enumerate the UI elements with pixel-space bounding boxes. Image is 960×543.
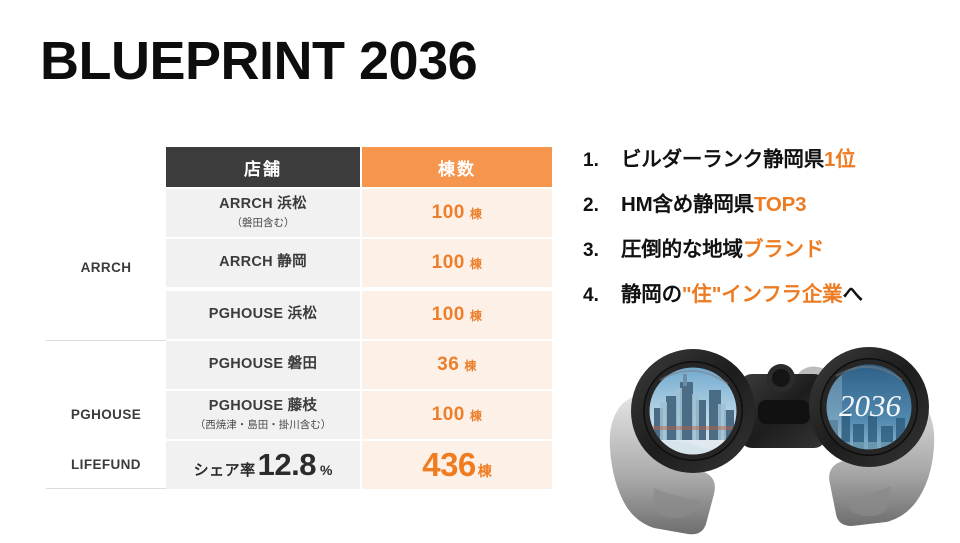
table-row: PGHOUSE 磐田 [166, 341, 360, 391]
list-item: 2. HM含め静岡県TOP3 [583, 187, 953, 232]
table-cell-count: 100棟 [362, 391, 552, 441]
share-value: 12.8 [258, 447, 316, 483]
total-unit: 棟 [478, 461, 492, 481]
list-item-highlight: ブランド [743, 238, 824, 261]
store-sub: （磐田含む） [232, 215, 295, 230]
list-item: 3. 圧倒的な地域ブランド [583, 232, 953, 277]
column-header-count: 棟数 [362, 147, 552, 187]
list-item-text-after: へ [842, 283, 862, 306]
list-item: 1. ビルダーランク静岡県1位 [583, 142, 953, 187]
table-cell-count: 36棟 [362, 341, 552, 391]
list-item-number: 1. [583, 150, 621, 172]
count-unit: 棟 [470, 407, 483, 424]
lens-text: 2036 [839, 388, 902, 423]
list-item-number: 3. [583, 240, 621, 262]
list-item: 4. 静岡の"住"インフラ企業へ [583, 277, 953, 322]
list-item-number: 2. [583, 195, 621, 217]
table-cell-count: 100棟 [362, 189, 552, 239]
table-cell-count: 100棟 [362, 291, 552, 341]
table-row: ARRCH 静岡 [166, 239, 360, 289]
store-name: ARRCH 静岡 [219, 254, 307, 271]
table-row: PGHOUSE 藤枝 （西焼津・島田・掛川含む） [166, 391, 360, 441]
count-unit: 棟 [464, 357, 477, 374]
list-item-text: HM含め静岡県 [621, 193, 754, 216]
column-header-store: 店舗 [166, 147, 360, 187]
summary-total-cell: 436 棟 [362, 441, 552, 489]
store-name: PGHOUSE 藤枝 [209, 398, 318, 415]
binoculars-illustration: 2036 [590, 338, 952, 538]
store-name: PGHOUSE 浜松 [209, 306, 318, 323]
total-value: 436 [422, 446, 476, 484]
count-unit: 棟 [470, 205, 483, 222]
table-cell-count: 100棟 [362, 239, 552, 289]
store-name: PGHOUSE 磐田 [209, 356, 318, 373]
list-item-highlight: TOP3 [754, 193, 806, 216]
list-item-number: 4. [583, 285, 621, 307]
list-item-highlight: 1位 [824, 148, 856, 171]
count-value: 100 [432, 304, 465, 326]
share-label: シェア率 [194, 459, 256, 480]
table-row: PGHOUSE 浜松 [166, 291, 360, 341]
group-label-lifefund: LIFEFUND [46, 441, 166, 489]
list-item-text: 圧倒的な地域 [621, 238, 743, 261]
store-sub: （西焼津・島田・掛川含む） [195, 417, 332, 432]
share-unit: % [320, 462, 332, 478]
count-unit: 棟 [470, 255, 483, 272]
list-item-text: ビルダーランク静岡県 [621, 148, 824, 171]
store-name: ARRCH 浜松 [219, 196, 307, 213]
count-unit: 棟 [470, 307, 483, 324]
count-value: 100 [432, 404, 465, 426]
group-label-column: ARRCH PGHOUSE LIFEFUND [46, 147, 166, 489]
count-value: 100 [432, 252, 465, 274]
page-title: BLUEPRINT 2036 [40, 34, 477, 88]
count-value: 36 [437, 354, 459, 376]
summary-share-cell: シェア率 12.8 % [166, 441, 360, 489]
table-row: ARRCH 浜松 （磐田含む） [166, 189, 360, 239]
list-item-text: 静岡の [621, 283, 682, 306]
table-grid: 店舗 棟数 ARRCH 浜松 （磐田含む） 100棟 ARRCH 静岡 100棟… [166, 147, 552, 489]
count-value: 100 [432, 202, 465, 224]
key-points-list: 1. ビルダーランク静岡県1位 2. HM含め静岡県TOP3 3. 圧倒的な地域… [583, 142, 953, 322]
store-count-table: ARRCH PGHOUSE LIFEFUND 店舗 棟数 ARRCH 浜松 （磐… [46, 147, 552, 489]
binoculars-icon: 2036 [590, 338, 952, 538]
group-label-arrch: ARRCH [46, 194, 166, 341]
list-item-highlight: "住"インフラ企業 [682, 283, 843, 306]
